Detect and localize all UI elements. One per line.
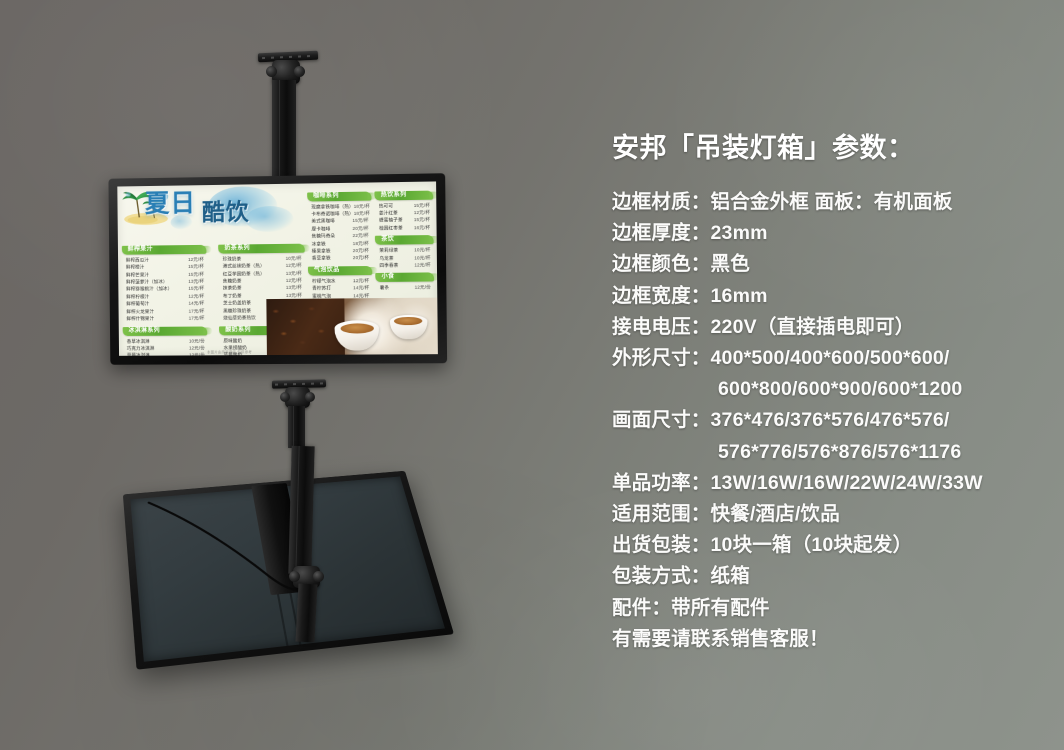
menu-item-name: 香草冰淇淋 xyxy=(127,337,150,344)
light-box-front: 夏日酷饮 鲜榨果汁鲜榨西瓜汁12元/杯鲜榨橙汁15元/杯鲜榨芒果汁15元/杯鲜榨… xyxy=(108,173,447,365)
spec-line-accessories: 配件：带所有配件 xyxy=(612,593,1052,624)
menu-title-sub: 酷饮 xyxy=(202,200,250,224)
menu-item-name: 香草拿铁 xyxy=(312,255,331,263)
menu-item-price: 13元/杯 xyxy=(286,269,302,277)
menu-item-price: 17元/杯 xyxy=(189,307,205,314)
spec-line-frame-thickness: 边框厚度：23mm xyxy=(612,218,1052,249)
menu-watermark: 本图片由商家提供 仅供参考 xyxy=(207,349,252,354)
menu-section-title: 酸奶系列 xyxy=(225,326,250,335)
menu-section-title: 鲜榨果汁 xyxy=(128,245,153,254)
menu-item-price: 12元/份 xyxy=(415,284,431,292)
menu-section-title: 热饮系列 xyxy=(381,191,407,200)
spec-title: 安邦「吊装灯箱」参数： xyxy=(612,126,1052,165)
coffee-photo xyxy=(267,297,438,355)
menu-item-name: 乌龙茶 xyxy=(379,254,393,262)
menu-item-row: 草莓冰淇淋12元/份 xyxy=(123,352,208,356)
menu-section-title: 气泡饮品 xyxy=(314,266,340,275)
spec-line-frame-color: 边框颜色：黑色 xyxy=(612,249,1052,280)
tilt-knob-icon xyxy=(266,66,277,77)
menu-item-name: 红豆芋圆奶茶（热） xyxy=(223,270,265,278)
menu-section-header: 热饮系列 xyxy=(375,190,433,200)
menu-item-name: 焦糖玛奇朵 xyxy=(312,232,336,240)
menu-section-header: 鲜榨果汁 xyxy=(122,245,207,255)
extension-pole-upper-segment xyxy=(288,406,305,448)
spec-line-outer-size-1: 外形尺寸：400*500/400*600/500*600/ xyxy=(612,343,1052,374)
spec-line-power: 单品功率：13W/16W/16W/22W/24W/33W xyxy=(612,468,1052,499)
menu-item-name: 柠檬气泡水 xyxy=(312,277,336,285)
menu-section-header: 小食 xyxy=(375,273,433,283)
menu-section-title: 茶饮 xyxy=(381,236,394,245)
menu-section-section-hot-drinks: 热饮系列热可可15元/杯姜汁红茶12元/杯蜂蜜柚子茶15元/杯桂圆红枣茶16元/… xyxy=(375,190,434,232)
menu-item-price: 13元/杯 xyxy=(188,278,204,286)
menu-item-price: 10元/份 xyxy=(189,337,205,344)
menu-item-price: 12元/份 xyxy=(189,352,205,356)
menu-section-section-ice-cream: 冰淇淋系列香草冰淇淋10元/份巧克力冰淇淋12元/份草莓冰淇淋12元/份抹茶冰淇… xyxy=(123,326,208,356)
menu-item-row: 鲜榨什锦果汁17元/杯 xyxy=(123,315,208,323)
extension-pole xyxy=(272,80,296,180)
menu-section-header: 冰淇淋系列 xyxy=(123,326,208,336)
menu-item-name: 桂圆红枣茶 xyxy=(379,224,403,232)
menu-item-price: 17元/杯 xyxy=(189,315,205,322)
spec-line-frame-width: 边框宽度：16mm xyxy=(612,281,1052,312)
menu-item-name: 巧克力冰淇淋 xyxy=(127,345,155,352)
menu-item-price: 12元/杯 xyxy=(188,293,204,301)
menu-column: 鲜榨果汁鲜榨西瓜汁12元/杯鲜榨橙汁15元/杯鲜榨芒果汁15元/杯鲜榨菠萝汁（加… xyxy=(122,245,208,356)
menu-title: 夏日酷饮 xyxy=(145,190,250,216)
coffee-cup-icon xyxy=(335,320,380,350)
menu-item-name: 薯条 xyxy=(380,284,390,292)
menu-item-price: 14元/杯 xyxy=(353,284,369,292)
menu-item-price: 13元/杯 xyxy=(286,284,302,292)
tilt-knob-icon xyxy=(289,571,300,582)
tilt-knob-icon xyxy=(294,66,305,77)
menu-section-section-coffee: 咖啡系列现磨拿铁咖啡（热）18元/杯卡布奇诺咖啡（热）18元/杯美式黑咖啡15元… xyxy=(307,191,372,262)
spec-line-contact: 有需要请联系销售客服！ xyxy=(612,624,1052,655)
menu-section-section-fresh-fruit: 鲜榨果汁鲜榨西瓜汁12元/杯鲜榨橙汁15元/杯鲜榨芒果汁15元/杯鲜榨菠萝汁（加… xyxy=(122,245,208,323)
menu-section-title: 冰淇淋系列 xyxy=(129,326,160,335)
spec-line-voltage: 接电电压：220V（直接插电即可） xyxy=(612,312,1052,343)
menu-section-section-snacks: 小食薯条12元/份 xyxy=(375,273,433,292)
spec-line-packing-method: 包装方式：纸箱 xyxy=(612,561,1052,592)
menu-item-row: 薯条12元/份 xyxy=(376,284,434,292)
menu-section-title: 奶茶系列 xyxy=(224,244,249,253)
menu-section-header: 奶茶系列 xyxy=(219,243,305,253)
bracket-arm xyxy=(295,584,317,643)
tilt-knob-icon xyxy=(313,571,324,582)
menu-section-title: 咖啡系列 xyxy=(313,192,339,201)
spec-line-picture-size-1: 画面尺寸：376*476/376*576/476*576/ xyxy=(612,405,1052,436)
menu-section-header: 咖啡系列 xyxy=(307,191,371,201)
menu-item-price: 16元/杯 xyxy=(414,224,430,232)
menu-item-price: 12元/杯 xyxy=(286,277,302,285)
aluminium-frame: 夏日酷饮 鲜榨果汁鲜榨西瓜汁12元/杯鲜榨橙汁15元/杯鲜榨芒果汁15元/杯鲜榨… xyxy=(108,173,447,365)
product-photo-canvas: 夏日酷饮 鲜榨果汁鲜榨西瓜汁12元/杯鲜榨橙汁15元/杯鲜榨芒果汁15元/杯鲜榨… xyxy=(0,0,1064,750)
menu-item-name: 鲜榨什锦果汁 xyxy=(126,315,154,323)
spec-line-shipping-package: 出货包装：10块一箱（10块起发） xyxy=(612,530,1052,561)
menu-hero-art: 夏日酷饮 xyxy=(117,184,301,244)
menu-item-name: 鲜榨西瓜汁 xyxy=(126,256,149,264)
spec-line-application: 适用范围：快餐/酒店/饮品 xyxy=(612,499,1052,530)
menu-item-price: 12元/份 xyxy=(189,344,205,351)
menu-section-title: 小食 xyxy=(382,273,395,282)
menu-item-row: 桂圆红枣茶16元/杯 xyxy=(375,224,433,232)
menu-section-header: 气泡饮品 xyxy=(308,266,372,276)
menu-item-row: 四季春茶12元/杯 xyxy=(375,261,433,269)
menu-item-row: 香草拿铁20元/杯 xyxy=(308,254,372,262)
spec-line-frame-material: 边框材质：铝合金外框 面板：有机面板 xyxy=(612,187,1052,218)
extension-pole-lower-segment xyxy=(288,446,314,575)
menu-item-name: 原味酸奶 xyxy=(223,337,242,345)
coffee-beans-image xyxy=(267,298,346,355)
water-splash-icon xyxy=(246,206,294,233)
coffee-cup-icon xyxy=(389,314,427,339)
menu-item-name: 四季春茶 xyxy=(379,262,398,270)
menu-item-name: 草莓冰淇淋 xyxy=(127,352,150,356)
menu-section-section-tea: 茶饮茉莉绿茶10元/杯乌龙茶10元/杯四季春茶12元/杯 xyxy=(375,235,434,269)
menu-title-main: 夏日 xyxy=(145,189,196,218)
menu-item-name: 茉莉绿茶 xyxy=(379,247,398,255)
spec-line-outer-size-2: 600*800/600*900/600*1200 xyxy=(612,374,1052,405)
menu-item-price: 12元/杯 xyxy=(414,261,430,269)
spec-panel: 安邦「吊装灯箱」参数：边框材质：铝合金外框 面板：有机面板边框厚度：23mm边框… xyxy=(612,126,1052,655)
menu-panel: 夏日酷饮 鲜榨果汁鲜榨西瓜汁12元/杯鲜榨橙汁15元/杯鲜榨芒果汁15元/杯鲜榨… xyxy=(117,181,438,355)
menu-item-price: 12元/杯 xyxy=(353,277,369,285)
menu-column: 热饮系列热可可15元/杯姜汁红茶12元/杯蜂蜜柚子茶15元/杯桂圆红枣茶16元/… xyxy=(375,190,434,296)
spec-line-picture-size-2: 576*776/576*876/576*1176 xyxy=(612,437,1052,468)
menu-item-price: 20元/杯 xyxy=(353,254,369,262)
tilt-knob-icon xyxy=(280,392,290,402)
tilt-knob-icon xyxy=(305,392,315,402)
menu-item-price: 14元/杯 xyxy=(188,300,204,308)
menu-section-header: 茶饮 xyxy=(375,235,433,245)
menu-item-name: 烧仙草奶茶热饮 xyxy=(223,314,256,322)
